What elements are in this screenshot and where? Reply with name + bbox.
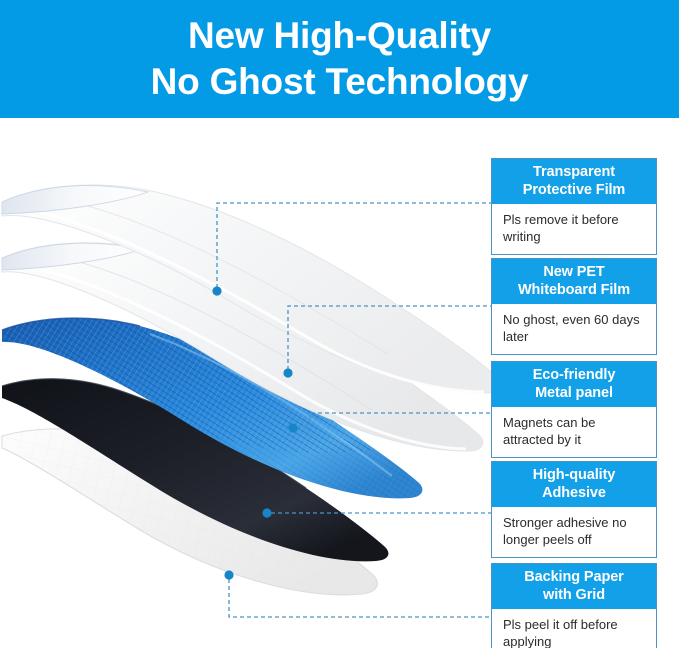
callout-title-line-2: Whiteboard Film (495, 281, 653, 299)
callout-description: No ghost, even 60 days later (492, 304, 656, 354)
callout-eco-friendly-metal-panel: Eco-friendly Metal panel Magnets can be … (491, 361, 657, 458)
callout-description: Magnets can be attracted by it (492, 407, 656, 457)
header-banner: New High-Quality No Ghost Technology (0, 0, 679, 118)
callout-title: High-quality Adhesive (492, 462, 656, 507)
callout-description: Pls remove it before writing (492, 204, 656, 254)
callout-title: Eco-friendly Metal panel (492, 362, 656, 407)
callout-title-line-1: Transparent (495, 163, 653, 181)
callout-title: Backing Paper with Grid (492, 564, 656, 609)
callout-transparent-protective-film: Transparent Protective Film Pls remove i… (491, 158, 657, 255)
callout-title-line-2: Protective Film (495, 181, 653, 199)
callout-title: New PET Whiteboard Film (492, 259, 656, 304)
callout-title-line-1: Backing Paper (495, 568, 653, 586)
callout-title-line-2: Metal panel (495, 384, 653, 402)
banner-title-line-1: New High-Quality (188, 13, 491, 59)
banner-title-line-2: No Ghost Technology (151, 59, 529, 105)
callout-title-line-1: Eco-friendly (495, 366, 653, 384)
callout-backing-paper-with-grid: Backing Paper with Grid Pls peel it off … (491, 563, 657, 648)
callout-title-line-2: with Grid (495, 586, 653, 604)
callout-title-line-2: Adhesive (495, 484, 653, 502)
callout-high-quality-adhesive: High-quality Adhesive Stronger adhesive … (491, 461, 657, 558)
callout-title-line-1: New PET (495, 263, 653, 281)
callout-description: Pls peel it off before applying (492, 609, 656, 648)
callout-new-pet-whiteboard-film: New PET Whiteboard Film No ghost, even 6… (491, 258, 657, 355)
product-infographic: New High-Quality No Ghost Technology (0, 0, 679, 648)
callout-title: Transparent Protective Film (492, 159, 656, 204)
callout-title-line-1: High-quality (495, 466, 653, 484)
callout-description: Stronger adhesive no longer peels off (492, 507, 656, 557)
